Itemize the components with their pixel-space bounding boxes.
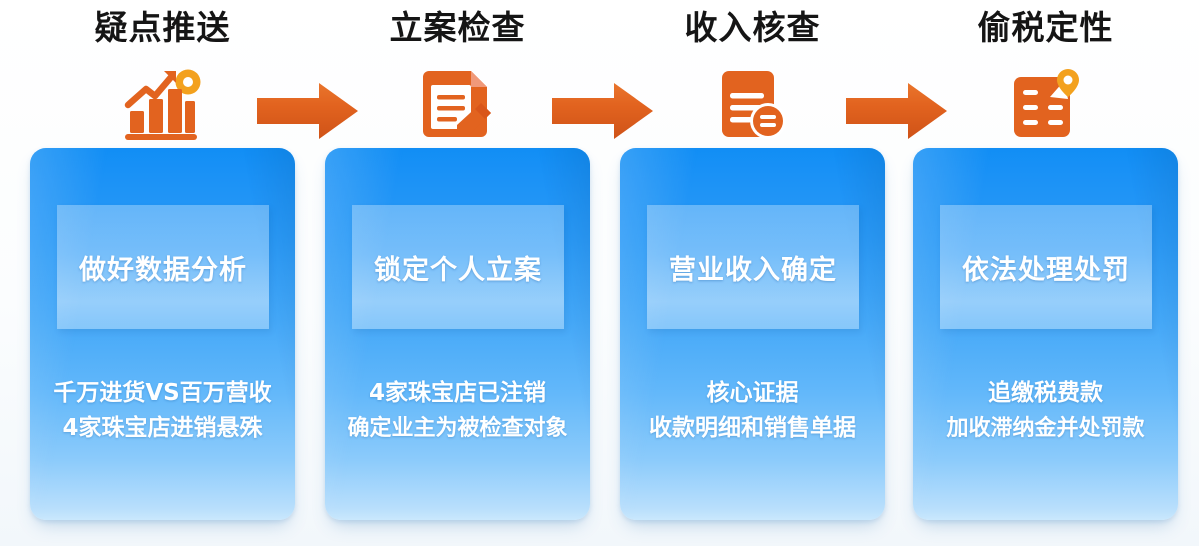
step-card-title: 依法处理处罚 bbox=[962, 248, 1130, 287]
step-heading: 疑点推送 bbox=[30, 8, 295, 48]
step-card: 营业收入确定 核心证据 收款明细和销售单据 bbox=[620, 148, 885, 520]
step-card: 依法处理处罚 追缴税费款 加收滞纳金并处罚款 bbox=[913, 148, 1178, 520]
step-heading: 收入核查 bbox=[620, 8, 885, 48]
step-card-title: 做好数据分析 bbox=[79, 248, 247, 287]
step-card-body: 追缴税费款 加收滞纳金并处罚款 bbox=[917, 376, 1174, 446]
step-card-panel: 依法处理处罚 bbox=[940, 205, 1152, 329]
process-flow-diagram: 疑点推送 做好数据分析 千万进货VS百万营收 4家珠宝店进销悬殊 bbox=[0, 0, 1199, 546]
step-heading: 立案检查 bbox=[325, 8, 590, 48]
document-search-badge-icon bbox=[716, 65, 790, 143]
step-card-body: 千万进货VS百万营收 4家珠宝店进销悬殊 bbox=[34, 376, 291, 446]
step-heading: 偷税定性 bbox=[913, 8, 1178, 48]
step-icon-slot bbox=[913, 62, 1178, 146]
step-icon-slot bbox=[620, 62, 885, 146]
step-icon-slot bbox=[325, 62, 590, 146]
step-card-title: 营业收入确定 bbox=[669, 248, 837, 287]
process-step-3: 收入核查 营业收入确定 核心证据 收款明细和销售单据 bbox=[620, 0, 885, 546]
step-card-body: 4家珠宝店已注销 确定业主为被检查对象 bbox=[329, 376, 586, 446]
step-icon-slot bbox=[30, 62, 295, 146]
step-card-body-line-1: 核心证据 bbox=[624, 376, 881, 411]
step-card: 做好数据分析 千万进货VS百万营收 4家珠宝店进销悬殊 bbox=[30, 148, 295, 520]
step-card: 锁定个人立案 4家珠宝店已注销 确定业主为被检查对象 bbox=[325, 148, 590, 520]
step-card-panel: 锁定个人立案 bbox=[352, 205, 564, 329]
step-card-title: 锁定个人立案 bbox=[374, 248, 542, 287]
step-card-body: 核心证据 收款明细和销售单据 bbox=[624, 376, 881, 446]
step-card-body-line-1: 千万进货VS百万营收 bbox=[34, 376, 291, 411]
step-card-panel: 营业收入确定 bbox=[647, 205, 859, 329]
document-pin-marker-icon bbox=[1008, 65, 1084, 143]
step-card-body-line-2: 加收滞纳金并处罚款 bbox=[917, 411, 1174, 446]
step-card-body-line-2: 4家珠宝店进销悬殊 bbox=[34, 411, 291, 446]
step-card-body-line-1: 4家珠宝店已注销 bbox=[329, 376, 586, 411]
process-step-1: 疑点推送 做好数据分析 千万进货VS百万营收 4家珠宝店进销悬殊 bbox=[30, 0, 295, 546]
bar-chart-growth-icon bbox=[122, 65, 204, 143]
process-step-2: 立案检查 锁定个人立案 4家珠宝店已注销 确定业主为被检查对象 bbox=[325, 0, 590, 546]
step-card-panel: 做好数据分析 bbox=[57, 205, 269, 329]
step-card-body-line-2: 确定业主为被检查对象 bbox=[329, 411, 586, 446]
process-step-4: 偷税定性 依法处理处罚 追缴税费款 加收滞纳金并处罚款 bbox=[913, 0, 1178, 546]
step-card-body-line-1: 追缴税费款 bbox=[917, 376, 1174, 411]
step-card-body-line-2: 收款明细和销售单据 bbox=[624, 411, 881, 446]
document-pen-icon bbox=[419, 65, 497, 143]
